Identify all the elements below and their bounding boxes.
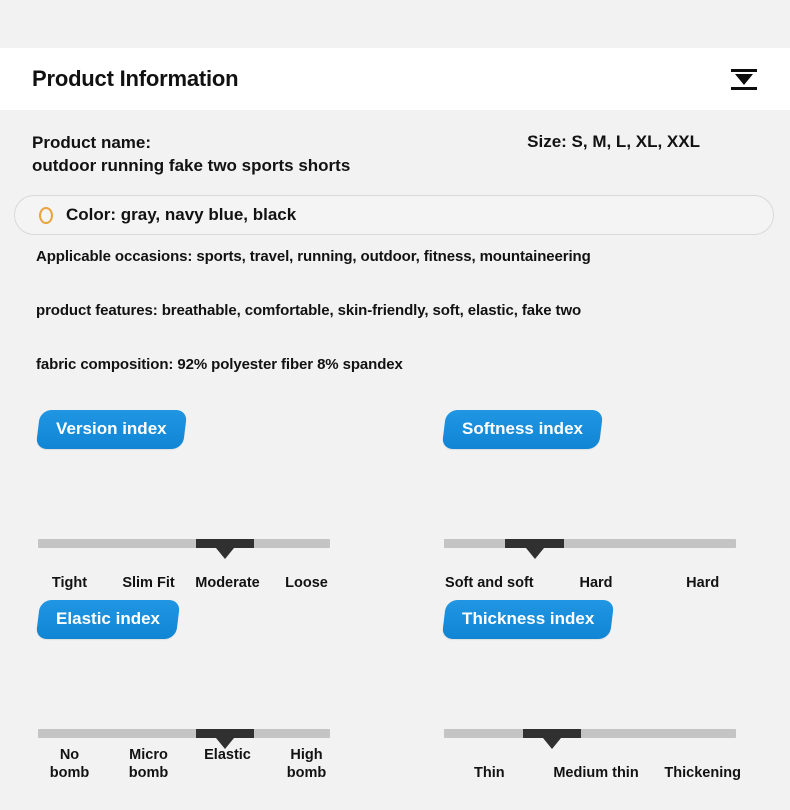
color-ring-icon xyxy=(39,207,53,224)
index-badge-version: Version index xyxy=(36,410,187,449)
index-scale-labels-elastic: No bomb Micro bomb Elastic High bomb xyxy=(30,746,346,782)
index-slider-softness[interactable] xyxy=(444,539,736,548)
scale-label: Elastic xyxy=(188,746,267,782)
product-name-value: outdoor running fake two sports shorts xyxy=(32,155,350,178)
scale-label: High bomb xyxy=(267,746,346,782)
scale-label: Soft and soft xyxy=(436,574,543,592)
collapse-icon-bottom-bar xyxy=(731,87,757,90)
slider-track xyxy=(38,539,330,548)
scale-label: Micro bomb xyxy=(109,746,188,782)
top-spacer xyxy=(0,0,790,48)
index-badge-thickness: Thickness index xyxy=(442,600,615,639)
index-scale-labels-thickness: Thin Medium thin Thickening xyxy=(436,764,756,782)
spec-list: Applicable occasions: sports, travel, ru… xyxy=(36,248,756,410)
page-title: Product Information xyxy=(32,66,238,92)
page-header: Product Information xyxy=(0,48,790,110)
slider-track xyxy=(38,729,330,738)
slider-fill xyxy=(505,539,563,548)
slider-fill xyxy=(196,539,254,548)
scale-label: Medium thin xyxy=(543,764,650,782)
product-name-row: Product name: outdoor running fake two s… xyxy=(0,132,790,178)
spec-line-features: product features: breathable, comfortabl… xyxy=(36,302,756,319)
index-slider-version[interactable] xyxy=(38,539,330,548)
collapse-arrow-icon[interactable] xyxy=(730,66,758,92)
spec-line-fabric: fabric composition: 92% polyester fiber … xyxy=(36,356,756,373)
collapse-icon-top-bar xyxy=(731,69,757,72)
index-grid: Version index Tight Slim Fit Moderate Lo… xyxy=(0,410,790,790)
slider-track xyxy=(444,729,736,738)
slider-fill xyxy=(196,729,254,738)
scale-label: Hard xyxy=(649,574,756,592)
index-slider-thickness[interactable] xyxy=(444,729,736,738)
slider-fill xyxy=(523,729,581,738)
scale-label: Moderate xyxy=(188,574,267,592)
index-badge-softness: Softness index xyxy=(442,410,604,449)
product-size: Size: S, M, L, XL, XXL xyxy=(527,132,758,152)
index-card-softness: Softness index Soft and soft Hard Hard xyxy=(404,410,790,600)
scale-label: Slim Fit xyxy=(109,574,188,592)
scale-label: Hard xyxy=(543,574,650,592)
slider-marker xyxy=(526,548,544,559)
slider-marker xyxy=(543,738,561,749)
slider-track xyxy=(444,539,736,548)
index-scale-labels-version: Tight Slim Fit Moderate Loose xyxy=(30,574,346,592)
scale-label: Thin xyxy=(436,764,543,782)
scale-label: Tight xyxy=(30,574,109,592)
index-card-version: Version index Tight Slim Fit Moderate Lo… xyxy=(0,410,404,600)
product-name-label: Product name: xyxy=(32,132,350,155)
index-slider-elastic[interactable] xyxy=(38,729,330,738)
product-body: Product name: outdoor running fake two s… xyxy=(0,110,790,810)
index-scale-labels-softness: Soft and soft Hard Hard xyxy=(436,574,756,592)
scale-label: Thickening xyxy=(649,764,756,782)
color-option-label: Color: gray, navy blue, black xyxy=(66,205,296,225)
scale-label: Loose xyxy=(267,574,346,592)
color-option-pill[interactable]: Color: gray, navy blue, black xyxy=(14,195,774,235)
index-badge-elastic: Elastic index xyxy=(36,600,181,639)
product-information-page: Product Information Product name: outdoo… xyxy=(0,0,790,810)
slider-marker xyxy=(216,548,234,559)
index-card-elastic: Elastic index No bomb Micro bomb Elastic… xyxy=(0,600,404,790)
index-card-thickness: Thickness index Thin Medium thin Thicken… xyxy=(404,600,790,790)
product-name-block: Product name: outdoor running fake two s… xyxy=(32,132,350,178)
scale-label: No bomb xyxy=(30,746,109,782)
spec-line-occasions: Applicable occasions: sports, travel, ru… xyxy=(36,248,756,265)
collapse-icon-triangle xyxy=(735,74,753,85)
